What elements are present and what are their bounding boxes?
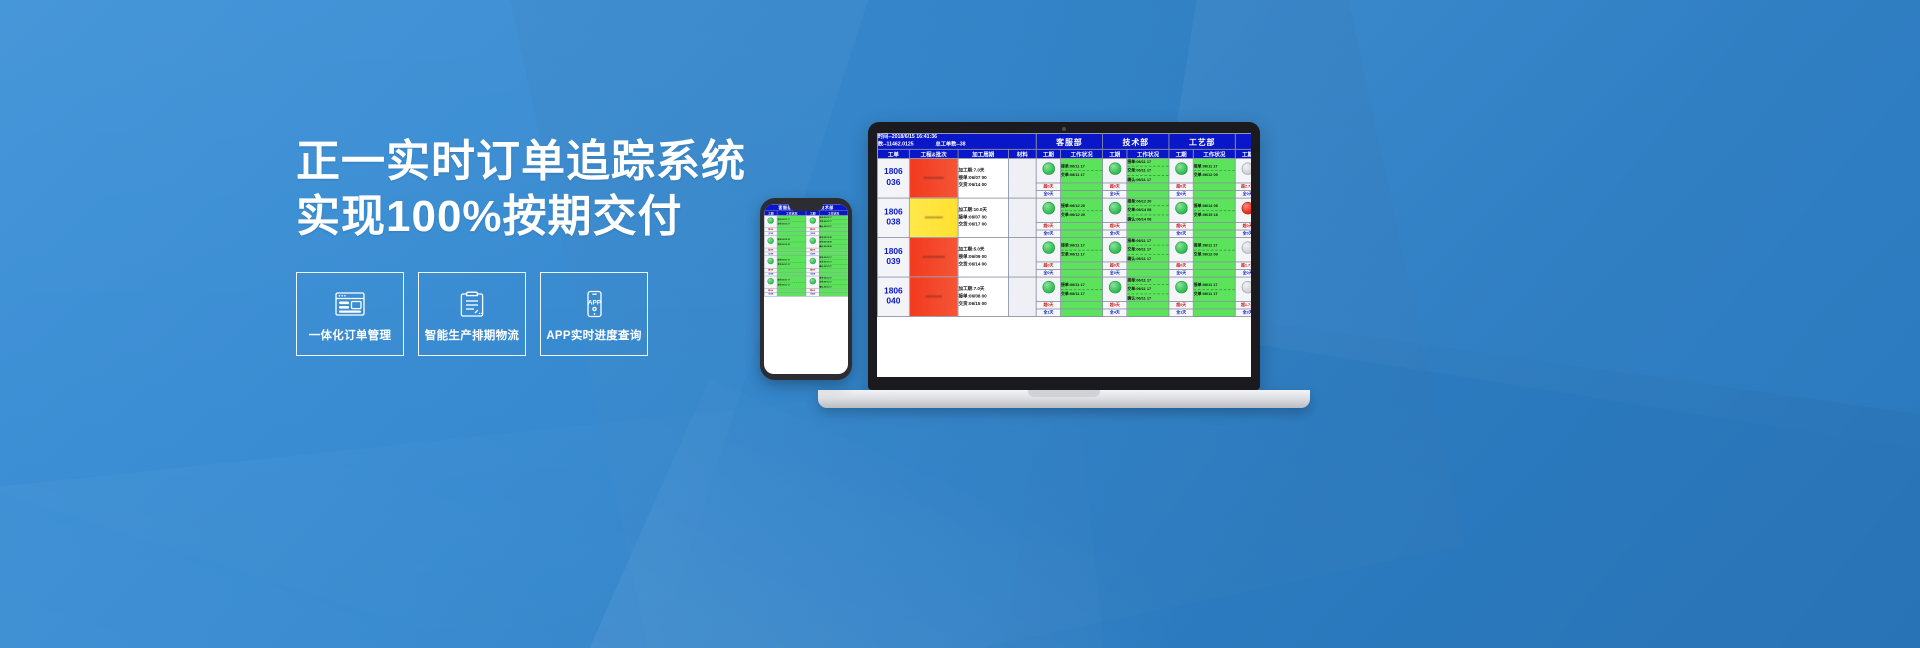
status-line: 接单:06/11 17 bbox=[1127, 238, 1168, 246]
overdue-tag: 超0天 bbox=[1103, 183, 1127, 191]
status-spacer bbox=[1061, 183, 1103, 191]
laptop-duration-cell-0[interactable] bbox=[1036, 198, 1060, 222]
status-spacer bbox=[1193, 270, 1235, 278]
status-dot-grey-icon bbox=[1241, 281, 1251, 294]
col-header-status-proc: 工作状况 bbox=[1193, 149, 1235, 158]
status-spacer bbox=[777, 292, 806, 296]
status-line: 接单:06/11 17 bbox=[1061, 282, 1102, 290]
status-line: 接单:06/11 17 bbox=[778, 279, 806, 283]
cycle-line: 交货:06/15 00 bbox=[958, 301, 1008, 308]
overdue-tag: 超2.7天 bbox=[1235, 183, 1251, 191]
col-header-duration-tech: 工期 bbox=[1103, 149, 1127, 158]
overdue-tag: 超1.7天 bbox=[1235, 301, 1251, 309]
status-dot-green-icon bbox=[809, 217, 815, 223]
laptop-lid: 时间--2018/6/15 16:41:36 数--11462.0125 总工单… bbox=[868, 122, 1260, 390]
status-line: 接单:06/11 17 bbox=[778, 218, 806, 222]
status-line: 交单:06/11 17 bbox=[1194, 291, 1235, 297]
status-spacer bbox=[1193, 191, 1235, 199]
feature-card-app-progress[interactable]: APP APP实时进度查询 bbox=[540, 272, 648, 356]
phone-duration-cell-1[interactable] bbox=[806, 276, 819, 288]
phone-screen[interactable]: 客服部 技术部 工期 工作状况 工期 工作状况 接单:06/11 17交单:06… bbox=[764, 204, 848, 374]
status-dot-green-icon bbox=[1108, 281, 1121, 294]
status-dot-green-icon bbox=[768, 238, 774, 244]
cycle-line: 加工期:7.0天 bbox=[958, 167, 1008, 174]
status-line: 接单:06/11 17 bbox=[778, 258, 806, 262]
total-tag: 全0天 bbox=[1169, 191, 1193, 199]
phone-status-cell-0[interactable]: 接单:06/12 20交单:06/12 20 bbox=[777, 236, 806, 248]
status-spacer bbox=[1061, 270, 1103, 278]
status-line: 交单:06/11 17 bbox=[778, 222, 806, 225]
order-tracking-dashboard[interactable]: 时间--2018/6/15 16:41:36 数--11462.0125 总工单… bbox=[877, 133, 1251, 317]
laptop-duration-cell-2[interactable] bbox=[1169, 198, 1193, 222]
material-cell[interactable] bbox=[1008, 238, 1036, 278]
status-dot-green-icon bbox=[809, 258, 815, 264]
status-dot-green-icon bbox=[1175, 162, 1188, 175]
overdue-tag: 超0天 bbox=[1235, 222, 1251, 230]
col-header-duration-prod: 工期 bbox=[1235, 149, 1251, 158]
project-batch-text: ■■■■■■■■ bbox=[910, 291, 958, 303]
order-number-top: 1806 bbox=[878, 247, 909, 258]
phone-notch bbox=[789, 204, 823, 211]
status-line: 确认:06/11 17 bbox=[1127, 176, 1168, 182]
cycle-cell[interactable]: 加工期:7.0天接单:06/07 00交货:06/14 00 bbox=[958, 159, 1008, 199]
phone-order-dashboard[interactable]: 客服部 技术部 工期 工作状况 工期 工作状况 接单:06/11 17交单:06… bbox=[764, 204, 848, 297]
status-dot-green-icon bbox=[809, 278, 815, 284]
overdue-tag: 超0天 bbox=[1169, 183, 1193, 191]
status-dot-red-icon bbox=[1241, 202, 1251, 215]
col-header-duration-cs: 工期 bbox=[1036, 149, 1060, 158]
cycle-line: 接单:06/08 00 bbox=[958, 293, 1008, 300]
total-tag: 全1天 bbox=[1036, 309, 1060, 317]
overdue-tag: 超0天 bbox=[1169, 262, 1193, 270]
phone-duration-cell-1[interactable] bbox=[806, 236, 819, 248]
dashboard-meta: 时间--2018/6/15 16:41:36 数--11462.0125 总工单… bbox=[877, 133, 1036, 149]
col-header-material: 材料 bbox=[1008, 149, 1036, 158]
laptop-status-cell-1[interactable]: 接单:06/12 20交单:06/14 08确认:06/14 08 bbox=[1127, 198, 1169, 222]
laptop-duration-cell-1[interactable] bbox=[1103, 198, 1127, 222]
total-tag: 全0天 bbox=[1169, 230, 1193, 238]
cycle-line: 接单:06/09 00 bbox=[958, 254, 1008, 261]
status-line: 确认:06/11 17 bbox=[1127, 255, 1168, 261]
total-tag: 全0天 bbox=[1235, 270, 1251, 278]
status-line: 接单:06/11 17 bbox=[1127, 159, 1168, 167]
order-number-top: 1806 bbox=[878, 207, 909, 218]
overdue-tag: 超0天 bbox=[1103, 301, 1127, 309]
meta-total-orders: 总工单数--38 bbox=[936, 141, 966, 149]
total-tag: 全0天 bbox=[764, 292, 777, 296]
total-tag: 全0天 bbox=[1036, 270, 1060, 278]
phone-duration-cell-1[interactable] bbox=[806, 256, 819, 268]
laptop-status-cell-2[interactable]: 接单:06/14 08交单:06/15 16 bbox=[1193, 198, 1235, 222]
status-spacer bbox=[1127, 309, 1169, 317]
svg-text:APP: APP bbox=[588, 299, 602, 306]
status-spacer bbox=[1193, 309, 1235, 317]
status-dot-green-icon bbox=[1042, 162, 1055, 175]
laptop-duration-cell-0[interactable] bbox=[1036, 159, 1060, 183]
dept-header-technology: 技术部 bbox=[1103, 133, 1169, 149]
status-line: 交单:06/11 17 bbox=[778, 283, 806, 286]
laptop-status-cell-1[interactable]: 接单:06/11 17交单:06/11 17确认:06/11 17 bbox=[1127, 159, 1169, 183]
phone-status-cell-1[interactable]: 接单:06/11 17交单:06/11 17确认:06/11 17 bbox=[819, 215, 848, 227]
cycle-line: 加工期:5.0天 bbox=[958, 246, 1008, 253]
laptop-duration-cell-2[interactable] bbox=[1169, 159, 1193, 183]
status-line: 接单:06/11 17 bbox=[819, 216, 847, 220]
project-batch-text: ■■■■■■■■■■ bbox=[910, 172, 958, 184]
col-header-order: 工单 bbox=[877, 149, 909, 158]
laptop-base bbox=[818, 390, 1310, 408]
order-number-top: 1806 bbox=[878, 168, 909, 179]
status-spacer bbox=[1061, 191, 1103, 199]
status-spacer bbox=[1127, 301, 1169, 309]
total-tag: 全0天 bbox=[1235, 230, 1251, 238]
project-batch-text: ■■■■■■■■■■■ bbox=[910, 251, 958, 263]
status-line: 接单:06/12 20 bbox=[1127, 199, 1168, 207]
overdue-tag: 超0天 bbox=[1036, 183, 1060, 191]
overdue-tag: 超1.7天 bbox=[1235, 262, 1251, 270]
status-spacer bbox=[1127, 230, 1169, 238]
phone-table-row[interactable]: 接单:06/11 17交单:06/11 17接单:06/11 17交单:06/1… bbox=[764, 215, 848, 227]
laptop-duration-cell-2[interactable] bbox=[1169, 238, 1193, 262]
total-tag: 全0天 bbox=[1036, 230, 1060, 238]
laptop-status-cell-0[interactable]: 接单:06/11 17交单:06/11 17 bbox=[1061, 238, 1103, 262]
laptop-status-cell-2[interactable]: 接单:06/11 17交单:06/12 09 bbox=[1193, 159, 1235, 183]
total-tag: 全1天 bbox=[1169, 309, 1193, 317]
cycle-cell[interactable]: 加工期:7.0天接单:06/08 00交货:06/15 00 bbox=[958, 277, 1008, 317]
phone-duration-cell-0[interactable] bbox=[764, 236, 777, 248]
status-spacer bbox=[1127, 183, 1169, 191]
status-spacer bbox=[1193, 183, 1235, 191]
laptop-duration-cell-3[interactable] bbox=[1235, 277, 1251, 301]
dashboard-table[interactable]: 时间--2018/6/15 16:41:36 数--11462.0125 总工单… bbox=[877, 133, 1251, 317]
feature-label-production-schedule: 智能生产排期物流 bbox=[425, 327, 519, 343]
phone-r3-total-row: 全0天全0天 bbox=[764, 292, 848, 296]
mobile-app-icon: APP bbox=[577, 289, 611, 319]
status-spacer bbox=[1061, 262, 1103, 270]
phone-table-row[interactable]: 接单:06/11 17交单:06/11 17接单:06/11 17交单:06/1… bbox=[764, 256, 848, 268]
status-line: 交单:06/12 09 bbox=[1194, 172, 1235, 178]
laptop-duration-cell-1[interactable] bbox=[1103, 159, 1127, 183]
status-dot-grey-icon bbox=[1241, 241, 1251, 254]
overdue-tag: 超0天 bbox=[1036, 222, 1060, 230]
status-spacer bbox=[1061, 309, 1103, 317]
phone-duration-cell-0[interactable] bbox=[764, 256, 777, 268]
phone-dashboard-body[interactable]: 接单:06/11 17交单:06/11 17接单:06/11 17交单:06/1… bbox=[764, 215, 848, 296]
feature-label-order-management: 一体化订单管理 bbox=[309, 327, 392, 343]
laptop-duration-cell-3[interactable] bbox=[1235, 159, 1251, 183]
overdue-tag: 超0天 bbox=[1169, 301, 1193, 309]
laptop-duration-cell-3[interactable] bbox=[1235, 238, 1251, 262]
phone-status-cell-1[interactable]: 接单:06/12 20交单:06/14 08确认:06/14 08 bbox=[819, 236, 848, 248]
material-cell[interactable] bbox=[1008, 198, 1036, 238]
laptop-duration-cell-3[interactable] bbox=[1235, 198, 1251, 222]
status-line: 交单:06/11 17 bbox=[1061, 172, 1102, 178]
col-header-status-cs: 工作状况 bbox=[1061, 149, 1103, 158]
laptop-duration-cell-0[interactable] bbox=[1036, 238, 1060, 262]
status-dot-green-icon bbox=[1042, 241, 1055, 254]
total-tag: 全0天 bbox=[806, 292, 819, 296]
meta-count: 数--11462.0125 bbox=[878, 141, 914, 149]
dept-header-process: 工艺部 bbox=[1169, 133, 1235, 149]
overdue-tag: 超0天 bbox=[1036, 301, 1060, 309]
order-number-bottom: 038 bbox=[878, 218, 909, 229]
overdue-tag: 超0天 bbox=[1103, 262, 1127, 270]
clipboard-schedule-icon bbox=[455, 289, 489, 319]
total-tag: 全0天 bbox=[1103, 191, 1127, 199]
table-row[interactable]: 1806036■■■■■■■■■■加工期:7.0天接单:06/07 00交货:0… bbox=[877, 159, 1251, 183]
phone-duration-cell-0[interactable] bbox=[764, 215, 777, 227]
feature-card-production-schedule[interactable]: 智能生产排期物流 bbox=[418, 272, 526, 356]
status-dot-green-icon bbox=[768, 278, 774, 284]
total-tag: 全0天 bbox=[1169, 270, 1193, 278]
total-tag: 全4天 bbox=[1103, 309, 1127, 317]
material-cell[interactable] bbox=[1008, 159, 1036, 199]
status-dot-green-icon bbox=[1108, 202, 1121, 215]
phone-status-cell-1[interactable]: 接单:06/11 17交单:06/11 17确认:06/11 17 bbox=[819, 276, 848, 288]
phone-duration-cell-0[interactable] bbox=[764, 276, 777, 288]
total-tag: 全0天 bbox=[1103, 230, 1127, 238]
order-number-cell[interactable]: 1806039 bbox=[877, 238, 909, 278]
phone-status-cell-0[interactable]: 接单:06/11 17交单:06/11 17 bbox=[777, 256, 806, 268]
table-row[interactable]: 1806040■■■■■■■■加工期:7.0天接单:06/08 00交货:06/… bbox=[877, 277, 1251, 301]
device-group: 时间--2018/6/15 16:41:36 数--11462.0125 总工单… bbox=[740, 110, 1380, 440]
dept-header-customer-service: 客服部 bbox=[1036, 133, 1102, 149]
phone-status-cell-0[interactable]: 接单:06/11 17交单:06/11 17 bbox=[777, 276, 806, 288]
overdue-tag: 超0天 bbox=[1169, 222, 1193, 230]
status-line: 接单:06/11 17 bbox=[1061, 163, 1102, 171]
col-header-project-batch: 工程&批次 bbox=[909, 149, 958, 158]
phone-status-cell-1[interactable]: 接单:06/11 17交单:06/11 17确认:06/11 17 bbox=[819, 256, 848, 268]
cycle-line: 交货:06/14 00 bbox=[958, 182, 1008, 189]
status-line: 交单:06/11 17 bbox=[1061, 251, 1102, 257]
col-header-cycle: 加工周期 bbox=[958, 149, 1008, 158]
status-dot-grey-icon bbox=[1241, 162, 1251, 175]
status-dot-green-icon bbox=[1175, 241, 1188, 254]
cycle-line: 加工期:7.0天 bbox=[958, 286, 1008, 293]
status-line: 接单:06/14 08 bbox=[1194, 203, 1235, 211]
status-line: 接单:06/11 17 bbox=[819, 276, 847, 280]
cycle-cell[interactable]: 加工期:10.0天接单:06/07 00交货:06/17 00 bbox=[958, 198, 1008, 238]
feature-card-order-management[interactable]: 一体化订单管理 bbox=[296, 272, 404, 356]
total-tag: 全0天 bbox=[1103, 270, 1127, 278]
status-line: 交单:06/14 08 bbox=[1127, 207, 1168, 215]
order-number-bottom: 036 bbox=[878, 178, 909, 189]
total-tag: 全0天 bbox=[1235, 191, 1251, 199]
status-spacer bbox=[1061, 301, 1103, 309]
status-line: 交单:06/12 09 bbox=[1194, 251, 1235, 257]
status-dot-green-icon bbox=[768, 217, 774, 223]
status-line: 交单:06/11 17 bbox=[1127, 247, 1168, 255]
laptop-device: 时间--2018/6/15 16:41:36 数--11462.0125 总工单… bbox=[868, 122, 1310, 408]
status-line: 交单:06/11 17 bbox=[778, 263, 806, 266]
order-number-cell[interactable]: 1806040 bbox=[877, 277, 909, 317]
laptop-status-cell-0[interactable]: 接单:06/12 20交单:06/12 20 bbox=[1061, 198, 1103, 222]
phone-table-row[interactable]: 接单:06/12 20交单:06/12 20接单:06/12 20交单:06/1… bbox=[764, 236, 848, 248]
status-line: 交单:06/12 20 bbox=[778, 243, 806, 246]
status-line: 交单:06/11 17 bbox=[819, 220, 847, 224]
status-line: 交单:06/15 16 bbox=[1194, 212, 1235, 218]
order-number-bottom: 040 bbox=[878, 297, 909, 308]
subheader-row: 工单 工程&批次 加工周期 材料 工期 工作状况 工期 工作状况 工期 工作状况 bbox=[877, 149, 1251, 158]
col-header-status-tech: 工作状况 bbox=[1127, 149, 1169, 158]
status-dot-green-icon bbox=[809, 238, 815, 244]
status-dot-green-icon bbox=[1108, 241, 1121, 254]
phone-status-cell-0[interactable]: 接单:06/11 17交单:06/11 17 bbox=[777, 215, 806, 227]
status-line: 接单:06/11 17 bbox=[1127, 278, 1168, 286]
status-dot-green-icon bbox=[1108, 162, 1121, 175]
status-line: 接单:06/11 17 bbox=[1194, 163, 1235, 171]
status-spacer bbox=[1193, 230, 1235, 238]
project-batch-cell[interactable]: ■■■■■■■■■ bbox=[909, 198, 958, 238]
status-dot-green-icon bbox=[1175, 202, 1188, 215]
laptop-duration-cell-0[interactable] bbox=[1036, 277, 1060, 301]
status-line: 接单:06/12 20 bbox=[819, 236, 847, 240]
laptop-duration-cell-1[interactable] bbox=[1103, 277, 1127, 301]
total-tag: 全0天 bbox=[1036, 191, 1060, 199]
laptop-duration-cell-1[interactable] bbox=[1103, 238, 1127, 262]
status-spacer bbox=[819, 292, 848, 296]
status-line: 接单:06/11 17 bbox=[1194, 282, 1235, 290]
meta-and-dept-row: 时间--2018/6/15 16:41:36 数--11462.0125 总工单… bbox=[877, 133, 1251, 149]
status-line: 交单:06/11 17 bbox=[1127, 168, 1168, 176]
status-line: 接单:06/11 17 bbox=[819, 256, 847, 260]
project-batch-cell[interactable]: ■■■■■■■■■■■ bbox=[909, 238, 958, 278]
material-cell[interactable] bbox=[1008, 277, 1036, 317]
status-spacer bbox=[1193, 222, 1235, 230]
laptop-duration-cell-2[interactable] bbox=[1169, 277, 1193, 301]
total-tag: 全3天 bbox=[1235, 309, 1251, 317]
laptop-trackpad-notch bbox=[1028, 390, 1100, 397]
laptop-camera-icon bbox=[1062, 127, 1066, 131]
laptop-screen[interactable]: 时间--2018/6/15 16:41:36 数--11462.0125 总工单… bbox=[877, 133, 1251, 377]
status-spacer bbox=[1127, 270, 1169, 278]
status-dot-green-icon bbox=[768, 258, 774, 264]
cycle-line: 接单:06/07 00 bbox=[958, 175, 1008, 182]
project-batch-text: ■■■■■■■■■ bbox=[910, 212, 958, 224]
phone-table-row[interactable]: 接单:06/11 17交单:06/11 17接单:06/11 17交单:06/1… bbox=[764, 276, 848, 288]
cycle-line: 加工期:10.0天 bbox=[958, 207, 1008, 214]
laptop-status-cell-0[interactable]: 接单:06/11 17交单:06/11 17 bbox=[1061, 277, 1103, 301]
table-row[interactable]: 1806039■■■■■■■■■■■加工期:5.0天接单:06/09 00交货:… bbox=[877, 238, 1251, 262]
phone-body: 客服部 技术部 工期 工作状况 工期 工作状况 接单:06/11 17交单:06… bbox=[760, 198, 852, 380]
cycle-line: 交货:06/17 00 bbox=[958, 222, 1008, 229]
phone-duration-cell-1[interactable] bbox=[806, 215, 819, 227]
status-dot-green-icon bbox=[1175, 281, 1188, 294]
status-line: 接单:06/11 17 bbox=[1061, 242, 1102, 250]
table-row[interactable]: 1806038■■■■■■■■■加工期:10.0天接单:06/07 00交货:0… bbox=[877, 198, 1251, 222]
status-spacer bbox=[1061, 222, 1103, 230]
overdue-tag: 超0天 bbox=[1103, 222, 1127, 230]
status-line: 接单:06/12 20 bbox=[1061, 203, 1102, 211]
status-line: 确认:06/14 08 bbox=[1127, 216, 1168, 222]
overdue-tag: 超0天 bbox=[1036, 262, 1060, 270]
status-dot-green-icon bbox=[1042, 202, 1055, 215]
status-line: 接单:06/12 20 bbox=[778, 238, 806, 242]
status-dot-green-icon bbox=[1042, 281, 1055, 294]
laptop-status-cell-2[interactable]: 接单:06/11 17交单:06/12 09 bbox=[1193, 238, 1235, 262]
status-line: 交单:06/11 17 bbox=[819, 261, 847, 265]
order-number-top: 1806 bbox=[878, 286, 909, 297]
status-spacer bbox=[1061, 230, 1103, 238]
phone-device: 客服部 技术部 工期 工作状况 工期 工作状况 接单:06/11 17交单:06… bbox=[760, 198, 852, 380]
laptop-status-cell-0[interactable]: 接单:06/11 17交单:06/11 17 bbox=[1061, 159, 1103, 183]
status-line: 交单:06/11 17 bbox=[819, 281, 847, 285]
status-line: 确认:06/11 17 bbox=[1127, 295, 1168, 301]
cycle-line: 接单:06/07 00 bbox=[958, 214, 1008, 221]
col-header-duration-proc: 工期 bbox=[1169, 149, 1193, 158]
meta-time: 时间--2018/6/15 16:41:36 bbox=[878, 134, 1036, 142]
order-number-bottom: 039 bbox=[878, 257, 909, 268]
project-batch-cell[interactable]: ■■■■■■■■ bbox=[909, 277, 958, 317]
status-line: 接单:06/11 17 bbox=[1194, 242, 1235, 250]
laptop-status-cell-2[interactable]: 接单:06/11 17交单:06/11 17 bbox=[1193, 277, 1235, 301]
status-spacer bbox=[1193, 262, 1235, 270]
status-line: 交单:06/11 17 bbox=[1061, 291, 1102, 297]
laptop-status-cell-1[interactable]: 接单:06/11 17交单:06/11 17确认:06/11 17 bbox=[1127, 238, 1169, 262]
status-line: 交单:06/12 20 bbox=[1061, 212, 1102, 218]
dashboard-window-icon bbox=[333, 289, 367, 319]
order-number-cell[interactable]: 1806036 bbox=[877, 159, 909, 199]
status-spacer bbox=[1193, 301, 1235, 309]
dept-header-production: 生产部 bbox=[1235, 133, 1251, 149]
laptop-status-cell-1[interactable]: 接单:06/11 17交单:06/11 17确认:06/11 17 bbox=[1127, 277, 1169, 301]
order-number-cell[interactable]: 1806038 bbox=[877, 198, 909, 238]
project-batch-cell[interactable]: ■■■■■■■■■■ bbox=[909, 159, 958, 199]
phone-dashboard-table[interactable]: 客服部 技术部 工期 工作状况 工期 工作状况 接单:06/11 17交单:06… bbox=[764, 204, 848, 297]
feature-label-app-progress: APP实时进度查询 bbox=[546, 327, 641, 343]
cycle-cell[interactable]: 加工期:5.0天接单:06/09 00交货:06/14 00 bbox=[958, 238, 1008, 278]
status-spacer bbox=[1127, 262, 1169, 270]
status-line: 交单:06/11 17 bbox=[1127, 286, 1168, 294]
status-line: 交单:06/14 08 bbox=[819, 240, 847, 244]
dashboard-header: 时间--2018/6/15 16:41:36 数--11462.0125 总工单… bbox=[877, 133, 1251, 158]
status-spacer bbox=[1127, 191, 1169, 199]
cycle-line: 交货:06/14 00 bbox=[958, 261, 1008, 268]
status-spacer bbox=[1127, 222, 1169, 230]
dashboard-body[interactable]: 1806036■■■■■■■■■■加工期:7.0天接单:06/07 00交货:0… bbox=[877, 159, 1251, 317]
